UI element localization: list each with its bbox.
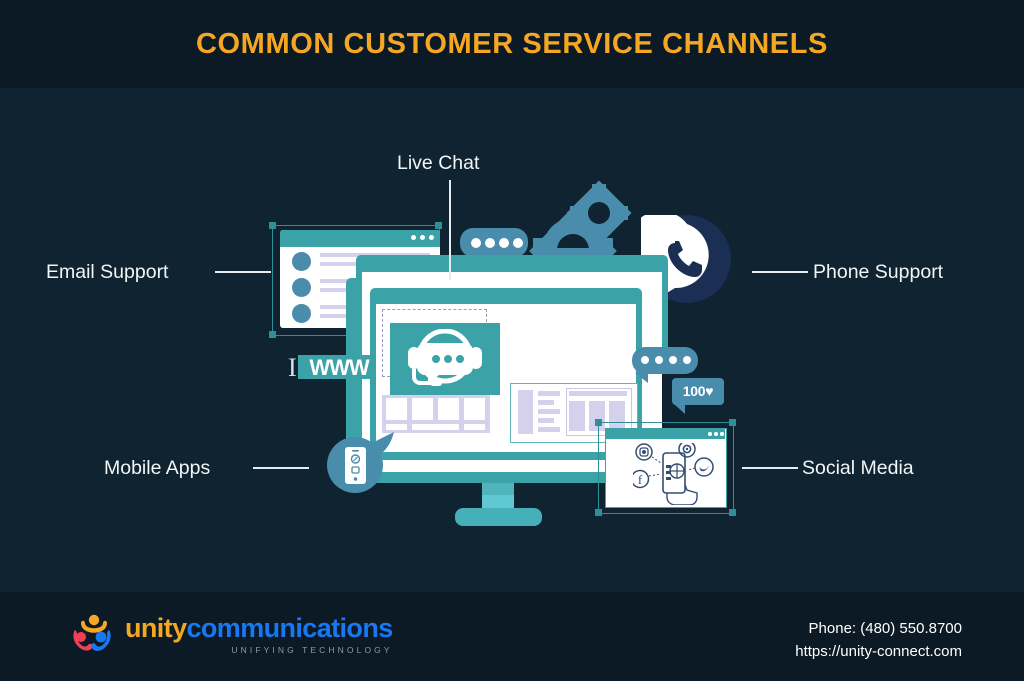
chat-bubble-tail-icon: [635, 371, 651, 384]
connector-email-support: [215, 271, 271, 273]
connector-phone-support: [752, 271, 808, 273]
label-phone-support: Phone Support: [813, 261, 943, 284]
heart-icon: ♥: [705, 383, 713, 399]
phone-screen-icon: [344, 446, 368, 486]
monitor-neck-shade: [482, 483, 514, 495]
label-email-support: Email Support: [46, 261, 168, 284]
infographic-canvas: Common Customer Service Channels: [0, 0, 1024, 681]
label-mobile-apps: Mobile Apps: [104, 457, 210, 480]
logo-mark-icon: [72, 612, 116, 658]
illustration-group: WWW I: [0, 0, 1024, 681]
contact-phone: Phone: (480) 550.8700: [795, 617, 962, 640]
headset-agent-icon: [402, 329, 488, 389]
like-badge-icon: 100♥: [672, 378, 724, 405]
logo-tagline: UNIFYING TECHNOLOGY: [125, 645, 393, 655]
text-caret-icon: I: [288, 355, 298, 380]
like-badge-tail-icon: [674, 403, 688, 415]
svg-text:f: f: [638, 472, 643, 487]
contact-info: Phone: (480) 550.8700 https://unity-conn…: [795, 617, 962, 664]
label-social-media: Social Media: [802, 457, 914, 480]
logo-word-unity: unity: [125, 613, 187, 643]
connector-social-media: [742, 467, 798, 469]
connector-mobile-apps: [253, 467, 309, 469]
monitor-base: [455, 508, 542, 526]
label-live-chat: Live Chat: [397, 152, 479, 175]
brand-logo: unitycommunications UNIFYING TECHNOLOGY: [72, 612, 393, 658]
mobile-bubble-tail-icon: [366, 432, 406, 464]
logo-word-communications: communications: [187, 613, 393, 643]
email-window-titlebar: [280, 230, 440, 247]
connector-live-chat: [449, 180, 451, 280]
social-window-titlebar: [605, 428, 725, 439]
contact-website[interactable]: https://unity-connect.com: [795, 640, 962, 663]
like-count: 100: [683, 383, 705, 399]
logo-wordmark: unitycommunications: [125, 615, 393, 642]
social-hand-phone-icon: f: [633, 443, 719, 505]
url-bar-text: WWW: [300, 356, 378, 380]
